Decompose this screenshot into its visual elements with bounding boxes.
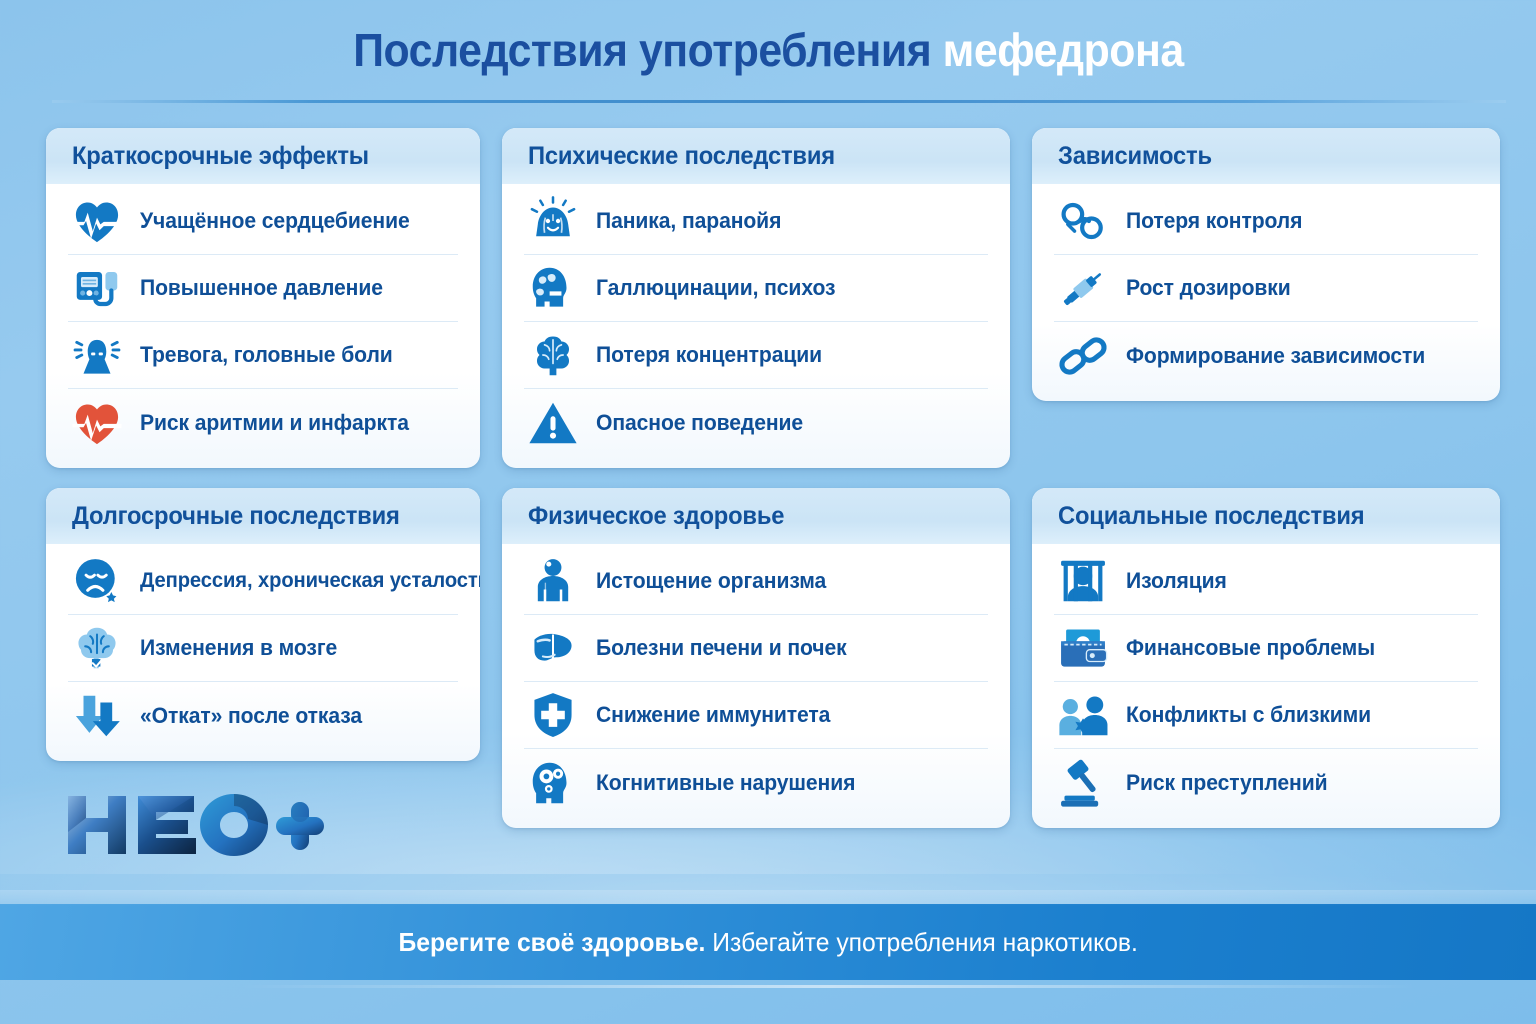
card-title: Физическое здоровье [528,502,961,531]
handcuffs-icon [1054,192,1112,250]
person-behind-bars-icon [1054,552,1112,610]
card-social-consequences: Социальные последствия [1032,488,1500,828]
card-title: Социальные последствия [1058,502,1453,531]
wallet-icon [1054,619,1112,677]
hallucination-head-icon [524,259,582,317]
brain-icon [524,326,582,384]
card-header: Психические последствия [502,128,1010,184]
list-item[interactable]: Формирование зависимости [1054,322,1478,389]
sad-face-icon [68,552,126,610]
conflict-people-icon [1054,686,1112,744]
card-body: Потеря контроля [1032,184,1500,401]
list-item[interactable]: Повышенное давление [68,255,458,322]
list-item[interactable]: Депрессия, хроническая усталость [68,548,458,615]
list-item[interactable]: Риск преступлений [1054,749,1478,816]
cards-row-2: Долгосрочные последствия [0,488,1536,828]
list-item-label: Конфликты с близкими [1126,702,1371,728]
footer-band: Берегите своё здоровье. Избегайте употре… [0,904,1536,980]
list-item[interactable]: Рост дозировки [1054,255,1478,322]
list-item[interactable]: «Откат» после отказа [68,682,458,749]
card-body: Паника, паранойя Галлюци [502,184,1010,468]
card-title: Психические последствия [528,142,961,171]
brain-changes-icon [68,619,126,677]
list-item-label: Потеря контроля [1126,208,1302,234]
list-item[interactable]: Потеря концентрации [524,322,988,389]
panic-face-icon [524,192,582,250]
card-column-4: Долгосрочные последствия [46,488,480,828]
card-title: Долгосрочные последствия [72,502,435,531]
list-item-label: Рост дозировки [1126,275,1291,301]
list-item[interactable]: Конфликты с близкими [1054,682,1478,749]
list-item[interactable]: Изменения в мозге [68,615,458,682]
card-column-3: Зависимость Потеря контроля [1032,128,1500,468]
card-title: Зависимость [1058,142,1453,171]
list-item-label: Истощение организма [596,568,826,594]
card-column-6: Социальные последствия [1032,488,1500,828]
list-item[interactable]: Болезни печени и почек [524,615,988,682]
red-heart-pulse-icon [68,394,126,452]
card-column-2: Психические последствия [502,128,1010,468]
warning-triangle-icon [524,394,582,452]
card-body: Учащённое сердцебиение [46,184,480,468]
card-header: Социальные последствия [1032,488,1500,544]
page-title-part2: мефедрона [942,24,1183,76]
list-item[interactable]: Снижение иммунитета [524,682,988,749]
down-arrows-icon [68,687,126,745]
page-title: Последствия употребления мефедрона [353,23,1183,77]
card-header: Краткосрочные эффекты [46,128,480,184]
list-item-label: Галлюцинации, психоз [596,275,835,301]
list-item-label: Паника, паранойя [596,208,781,234]
list-item-label: Формирование зависимости [1126,343,1425,369]
blood-pressure-monitor-icon [68,259,126,317]
list-item[interactable]: Тревога, головные боли [68,322,458,389]
list-item-label: Тревога, головные боли [140,342,393,368]
list-item-label: Потеря концентрации [596,342,822,368]
syringe-icon [1054,259,1112,317]
exhausted-person-icon [524,552,582,610]
card-mental-consequences: Психические последствия [502,128,1010,468]
gavel-icon [1054,754,1112,812]
list-item-label: Снижение иммунитета [596,702,830,728]
list-item-label: Изоляция [1126,568,1227,594]
page-title-part1: Последствия употребления [353,24,931,76]
liver-icon [524,619,582,677]
list-item-label: Депрессия, хроническая усталость [140,569,480,593]
list-item-label: Риск аритмии и инфаркта [140,410,409,436]
list-item-label: Изменения в мозге [140,635,337,661]
neo-plus-logo-icon [62,788,332,862]
list-item[interactable]: Изоляция [1054,548,1478,615]
list-item-label: Риск преступлений [1126,770,1327,796]
card-header: Физическое здоровье [502,488,1010,544]
list-item-label: Когнитивные нарушения [596,770,855,796]
list-item[interactable]: Истощение организма [524,548,988,615]
footer-message-bold: Берегите своё здоровье. [398,927,705,957]
list-item-label: Болезни печени и почек [596,635,847,661]
list-item-label: Финансовые проблемы [1126,635,1375,661]
footer-message-normal: Избегайте употребления наркотиков. [705,927,1138,957]
card-header: Долгосрочные последствия [46,488,480,544]
card-long-term-consequences: Долгосрочные последствия [46,488,480,761]
header-divider [52,100,1506,103]
page-header: Последствия употребления мефедрона [0,0,1536,100]
cards-row-1: Краткосрочные эффекты Учащённое сердцеби… [0,128,1536,468]
list-item[interactable]: Потеря контроля [1054,188,1478,255]
card-body: Депрессия, хроническая усталость [46,544,480,761]
logo [62,788,332,862]
heartbeat-icon [68,192,126,250]
card-physical-health: Физическое здоровье Истощение орга [502,488,1010,828]
list-item-label: Учащённое сердцебиение [140,208,410,234]
list-item-label: «Откат» после отказа [140,703,362,729]
card-body: Изоляция [1032,544,1500,828]
cards-grid: Краткосрочные эффекты Учащённое сердцеби… [0,128,1536,828]
footer-accent-line [240,985,1416,988]
list-item[interactable]: Паника, паранойя [524,188,988,255]
list-item[interactable]: Риск аритмии и инфаркта [68,389,458,456]
headache-person-icon [68,326,126,384]
card-dependence: Зависимость Потеря контроля [1032,128,1500,401]
list-item-label: Опасное поведение [596,410,803,436]
list-item[interactable]: Когнитивные нарушения [524,749,988,816]
list-item[interactable]: Финансовые проблемы [1054,615,1478,682]
gears-head-icon [524,754,582,812]
chain-link-icon [1054,327,1112,385]
card-header: Зависимость [1032,128,1500,184]
list-item-label: Повышенное давление [140,275,383,301]
card-short-term-effects: Краткосрочные эффекты Учащённое сердцеби… [46,128,480,468]
card-body: Истощение организма Болезни печени и поч… [502,544,1010,828]
list-item[interactable]: Опасное поведение [524,389,988,456]
footer-message: Берегите своё здоровье. Избегайте употре… [398,927,1137,958]
list-item[interactable]: Галлюцинации, психоз [524,255,988,322]
list-item[interactable]: Учащённое сердцебиение [68,188,458,255]
card-column-5: Физическое здоровье Истощение орга [502,488,1010,828]
shield-cross-icon [524,686,582,744]
card-title: Краткосрочные эффекты [72,142,435,171]
card-column-1: Краткосрочные эффекты Учащённое сердцеби… [46,128,480,468]
